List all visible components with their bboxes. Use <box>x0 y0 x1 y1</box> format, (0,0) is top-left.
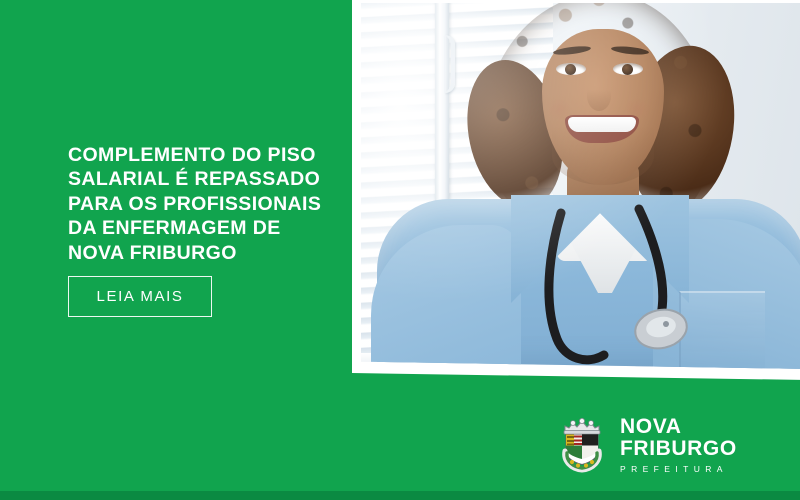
brand-text: NOVA FRIBURGO PREFEITURA <box>620 414 737 474</box>
headline-line-4: DA ENFERMAGEM DE <box>68 216 358 240</box>
brand-lockup[interactable]: NOVA FRIBURGO PREFEITURA <box>556 410 756 478</box>
read-more-button[interactable]: LEIA MAIS <box>68 276 212 317</box>
brand-line-friburgo: FRIBURGO <box>620 438 737 460</box>
headline-line-3: PARA OS PROFISSIONAIS <box>68 192 358 216</box>
headline-line-1: COMPLEMENTO DO PISO <box>68 143 358 167</box>
photo-light-overlay <box>361 3 800 369</box>
coat-of-arms-icon <box>556 415 608 473</box>
bottom-accent-strip <box>0 491 800 500</box>
photo-frame <box>352 0 800 380</box>
page-title: COMPLEMENTO DO PISO SALARIAL É REPASSADO… <box>68 143 358 265</box>
nurse-photo <box>361 3 800 369</box>
brand-line-nova: NOVA <box>620 416 737 438</box>
headline-line-5: NOVA FRIBURGO <box>68 241 358 265</box>
news-banner: COMPLEMENTO DO PISO SALARIAL É REPASSADO… <box>0 0 800 500</box>
photo-scene <box>361 3 800 369</box>
headline-line-2: SALARIAL É REPASSADO <box>68 167 358 191</box>
brand-subtitle: PREFEITURA <box>620 465 737 474</box>
read-more-label: LEIA MAIS <box>97 288 184 305</box>
